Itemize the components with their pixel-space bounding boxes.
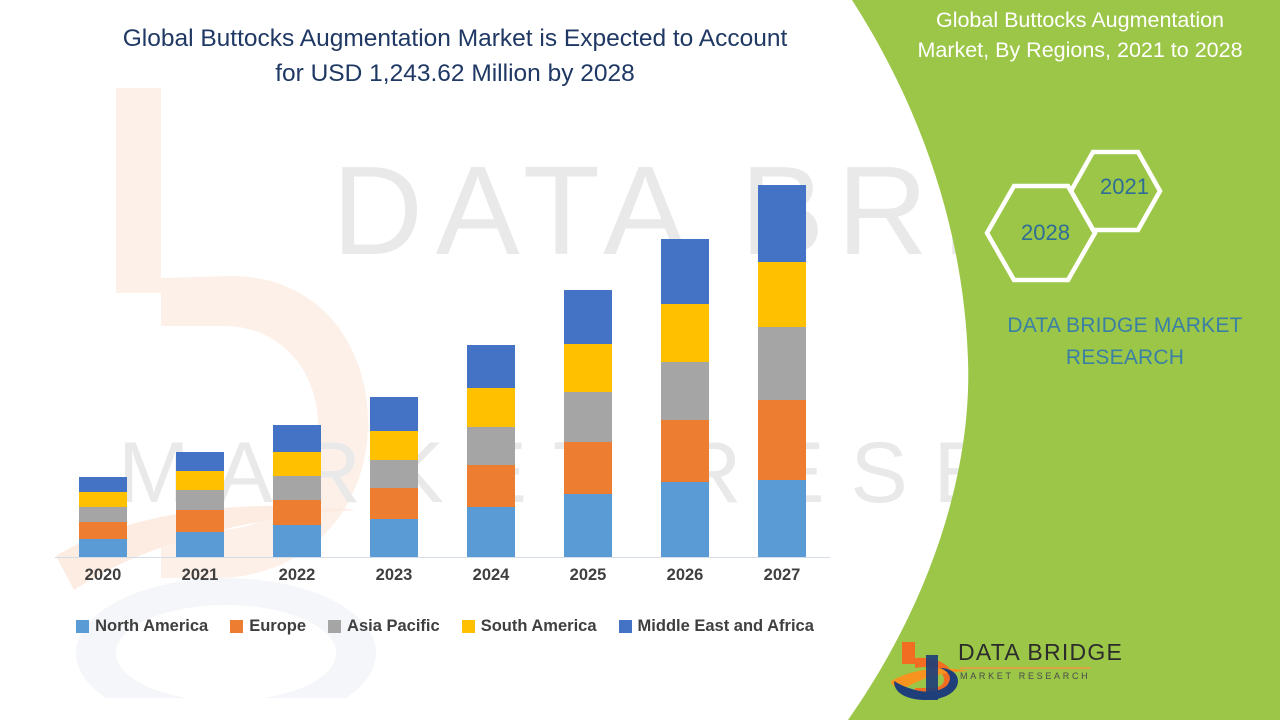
legend-label: Europe [249, 617, 306, 636]
bar-segment [661, 239, 709, 304]
brand-name: DATA BRIDGE MARKET RESEARCH [980, 310, 1270, 373]
legend-swatch-icon [328, 620, 341, 633]
legend-swatch-icon [619, 620, 632, 633]
bar-segment [758, 480, 806, 557]
hexagon-label-2028: 2028 [1021, 220, 1070, 246]
x-axis-labels: 20202021202220232024202520262027 [55, 566, 830, 585]
hexagon-pair-graphic [980, 148, 1200, 298]
bar-segment [273, 476, 321, 500]
bar-segment [273, 500, 321, 525]
bar-segment [661, 420, 709, 482]
x-axis-tick-label: 2020 [55, 566, 151, 585]
legend-swatch-icon [76, 620, 89, 633]
chart-title: Global Buttocks Augmentation Market is E… [60, 22, 850, 92]
brand-name-line-1: DATA BRIDGE MARKET [980, 310, 1270, 342]
bar-segment [79, 492, 127, 507]
x-axis-tick-label: 2024 [443, 566, 539, 585]
x-axis-tick-label: 2026 [637, 566, 733, 585]
x-axis-tick-label: 2022 [249, 566, 345, 585]
legend-label: South America [481, 617, 597, 636]
logo-divider [960, 667, 1091, 669]
bar-segment [564, 494, 612, 557]
logo-text-block: DATA BRIDGE MARKET RESEARCH [958, 640, 1108, 681]
logo-title: DATA BRIDGE [958, 640, 1108, 664]
legend-label: Asia Pacific [347, 617, 440, 636]
x-axis-tick-label: 2021 [152, 566, 248, 585]
bar-segment [176, 471, 224, 490]
bar-segment [79, 477, 127, 492]
bar-segment [467, 388, 515, 427]
bar-segment [176, 490, 224, 510]
bar-column-2025 [540, 150, 636, 557]
legend-item[interactable]: Europe [230, 617, 306, 636]
bar-segment [176, 532, 224, 557]
bar-segment [661, 304, 709, 362]
bar-segment [176, 510, 224, 532]
stacked-bar [370, 397, 418, 557]
bar-segment [79, 507, 127, 522]
stacked-bar [176, 452, 224, 557]
stacked-bar [273, 425, 321, 557]
bar-segment [273, 525, 321, 557]
bar-segment [661, 362, 709, 420]
bar-column-2024 [443, 150, 539, 557]
bar-column-2021 [152, 150, 248, 557]
x-axis-tick-label: 2025 [540, 566, 636, 585]
bar-segment [758, 400, 806, 480]
chart-legend: North AmericaEuropeAsia PacificSouth Ame… [50, 617, 840, 636]
bar-segment [564, 290, 612, 344]
legend-label: North America [95, 617, 208, 636]
panel-title-line-1: Global Buttocks Augmentation [900, 6, 1260, 36]
x-axis-tick-label: 2023 [346, 566, 442, 585]
bar-segment [564, 392, 612, 442]
legend-item[interactable]: North America [76, 617, 208, 636]
stacked-bar-chart [55, 150, 830, 557]
bar-segment [273, 425, 321, 452]
panel-title: Global Buttocks Augmentation Market, By … [900, 6, 1260, 65]
legend-label: Middle East and Africa [638, 617, 814, 636]
stacked-bar [758, 185, 806, 557]
x-axis-line [55, 557, 830, 558]
bar-segment [467, 427, 515, 465]
bar-segment [467, 465, 515, 507]
bar-column-2022 [249, 150, 345, 557]
bar-segment [564, 442, 612, 494]
bar-segment [370, 397, 418, 431]
infographic-canvas: DATA BRIDGE MARKET RESEARCH Global Butto… [0, 0, 1280, 720]
x-axis-tick-label: 2027 [734, 566, 830, 585]
stacked-bar [79, 477, 127, 557]
stacked-bar [564, 290, 612, 557]
bar-segment [176, 452, 224, 471]
bar-column-2023 [346, 150, 442, 557]
logo-subtitle: MARKET RESEARCH [960, 671, 1108, 681]
bar-segment [661, 482, 709, 557]
bar-segment [758, 262, 806, 327]
bar-segment [79, 539, 127, 557]
brand-name-line-2: RESEARCH [980, 342, 1270, 374]
bar-column-2020 [55, 150, 151, 557]
bar-segment [370, 519, 418, 557]
bar-segment [79, 522, 127, 539]
chart-title-line-1: Global Buttocks Augmentation Market is E… [60, 22, 850, 57]
panel-title-line-2: Market, By Regions, 2021 to 2028 [900, 36, 1260, 66]
bar-segment [758, 185, 806, 262]
legend-item[interactable]: Asia Pacific [328, 617, 440, 636]
bar-segment [273, 452, 321, 476]
bar-segment [467, 345, 515, 388]
stacked-bar [661, 239, 709, 557]
bar-column-2027 [734, 150, 830, 557]
bar-segment [370, 460, 418, 488]
legend-item[interactable]: Middle East and Africa [619, 617, 814, 636]
legend-swatch-icon [462, 620, 475, 633]
bar-segment [370, 431, 418, 460]
legend-swatch-icon [230, 620, 243, 633]
hexagon-label-2021: 2021 [1100, 174, 1149, 200]
bar-segment [564, 344, 612, 392]
bar-segment [758, 327, 806, 400]
chart-title-line-2: for USD 1,243.62 Million by 2028 [60, 57, 850, 92]
stacked-bar [467, 345, 515, 557]
bar-column-2026 [637, 150, 733, 557]
legend-item[interactable]: South America [462, 617, 597, 636]
bar-segment [467, 507, 515, 557]
bar-segment [370, 488, 418, 519]
